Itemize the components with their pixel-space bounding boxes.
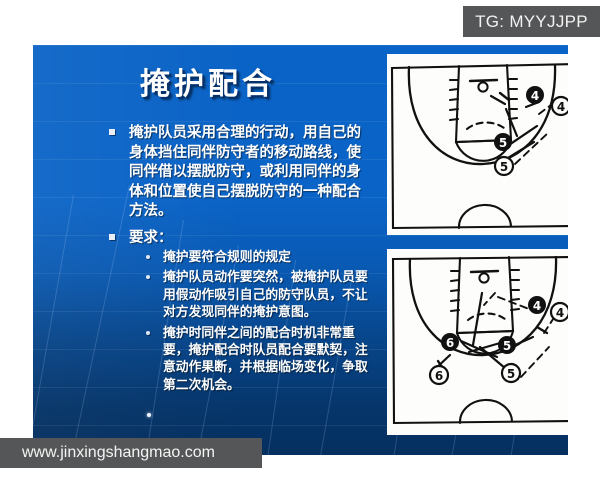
- svg-text:4: 4: [533, 299, 541, 313]
- round-bullet-icon: [146, 275, 150, 279]
- svg-text:5: 5: [507, 367, 515, 381]
- presentation-slide: 掩护配合 掩护队员采用合理的行动，用自己的身体挡住同伴防守者的移动路线，使同伴借…: [33, 45, 568, 455]
- slide-viewer: TG: MYYJJPP 掩护配合 掩护队员采用合理的行动，用自己的身体挡住同伴防…: [0, 0, 600, 480]
- bullet-item: 要求： 掩护要符合规则的规定 掩护队员动作要突然，被掩护队员要用假动作吸引自己的…: [107, 228, 375, 395]
- sub-bullet-item: 掩护队员动作要突然，被掩护队员要用假动作吸引自己的防守队员，不让对方发现同伴的掩…: [139, 269, 375, 321]
- footer-url-watermark: www.jinxingshangmao.com: [0, 438, 262, 468]
- svg-text:5: 5: [503, 339, 511, 353]
- bullet-text: 掩护队员采用合理的行动，用自己的身体挡住同伴防守者的移动路线，使同伴借以摆脱防守…: [129, 124, 361, 219]
- slide-body: 掩护队员采用合理的行动，用自己的身体挡住同伴防守者的移动路线，使同伴借以摆脱防守…: [107, 123, 375, 401]
- svg-text:4: 4: [557, 100, 565, 114]
- round-bullet-icon: [146, 255, 150, 259]
- square-bullet-icon: [109, 129, 115, 135]
- sub-bullet-list: 掩护要符合规则的规定 掩护队员动作要突然，被掩护队员要用假动作吸引自己的防守队员…: [129, 249, 375, 394]
- svg-text:6: 6: [435, 369, 443, 383]
- sub-bullet-text: 掩护队员动作要突然，被掩护队员要用假动作吸引自己的防守队员，不让对方发现同伴的掩…: [163, 270, 368, 320]
- svg-text:4: 4: [556, 306, 564, 320]
- bullet-text: 要求：: [129, 229, 173, 246]
- slide-title: 掩护配合: [33, 59, 383, 103]
- sub-bullet-text: 掩护要符合规则的规定: [163, 250, 291, 265]
- telegram-watermark-label: TG: MYYJJPP: [475, 12, 588, 32]
- svg-text:6: 6: [446, 336, 454, 350]
- svg-text:5: 5: [500, 160, 508, 174]
- footer-url-label: www.jinxingshangmao.com: [22, 444, 215, 462]
- sub-bullet-item: 掩护要符合规则的规定: [139, 249, 375, 266]
- svg-text:5: 5: [499, 136, 507, 150]
- sub-bullet-item: 掩护时同伴之间的配合时机非常重要，掩护配合时队员配合要默契，注意动作果断，并根据…: [139, 325, 375, 395]
- square-bullet-icon: [109, 234, 115, 240]
- svg-text:4: 4: [531, 89, 539, 103]
- round-bullet-icon: [146, 331, 150, 335]
- basketball-play-diagram-bottom: 4 5 6 4 5 6: [387, 249, 568, 435]
- telegram-watermark-badge: TG: MYYJJPP: [463, 6, 600, 37]
- basketball-play-diagram-top: 4 5 4 5: [387, 54, 568, 235]
- background-speck: [147, 413, 151, 417]
- sub-bullet-text: 掩护时同伴之间的配合时机非常重要，掩护配合时队员配合要默契，注意动作果断，并根据…: [163, 326, 368, 393]
- bullet-item: 掩护队员采用合理的行动，用自己的身体挡住同伴防守者的移动路线，使同伴借以摆脱防守…: [107, 123, 375, 221]
